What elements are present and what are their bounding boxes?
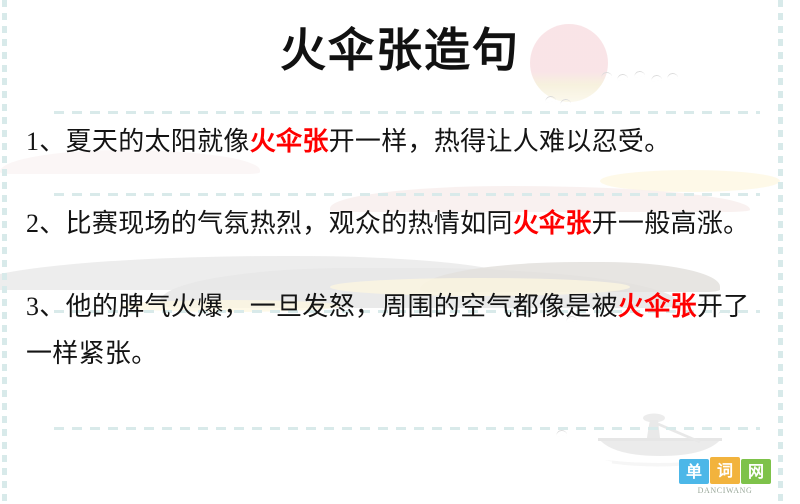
page-title: 火伞张造句 [280,22,520,78]
site-logo[interactable]: 单 词 网 DANCIWANG [676,457,774,495]
logo-char-3: 网 [741,459,771,484]
sentence-item-2: 2、比赛现场的气氛热烈，观众的热情如同火伞张开一般高涨。 [14,200,776,247]
bird-icon [545,95,557,102]
sentence-1-index: 1、 [26,127,66,156]
sentence-3-index: 3、 [26,292,66,321]
bird-icon [560,98,572,105]
divider-4 [54,427,760,430]
divider-1 [54,111,760,114]
sentence-list: 1、夏天的太阳就像火伞张开一样，热得让人难以忍受。 2、比赛现场的气氛热烈，观众… [14,118,776,377]
sentence-1-before: 夏天的太阳就像 [66,127,250,156]
sentence-2-highlight: 火伞张 [513,209,592,238]
logo-blocks: 单 词 网 [676,457,774,484]
sentence-1-highlight: 火伞张 [250,127,329,156]
sentence-1-after: 开一样，热得让人难以忍受。 [329,127,671,156]
sentence-item-3: 3、他的脾气火爆，一旦发怒，周围的空气都像是被火伞张开了一样紧张。 [14,283,776,377]
sentence-3-highlight: 火伞张 [618,292,697,321]
sentence-3-before: 他的脾气火爆，一旦发怒，周围的空气都像是被 [66,292,618,321]
logo-char-2: 词 [710,457,740,484]
sentence-2-after: 开一般高涨。 [592,209,750,238]
page-title-container: 火伞张造句 [0,22,800,78]
logo-caption: DANCIWANG [676,486,774,495]
bird-icon [556,429,568,436]
sentence-2-before: 比赛现场的气氛热烈，观众的热情如同 [66,209,513,238]
slide-page: 火伞张造句 1、夏天的太阳就像火伞张开一样，热得让人难以忍受。 2、比赛现场的气… [0,0,800,504]
logo-char-1: 单 [679,459,709,484]
sentence-item-1: 1、夏天的太阳就像火伞张开一样，热得让人难以忍受。 [14,118,776,165]
sentence-2-index: 2、 [26,209,66,238]
